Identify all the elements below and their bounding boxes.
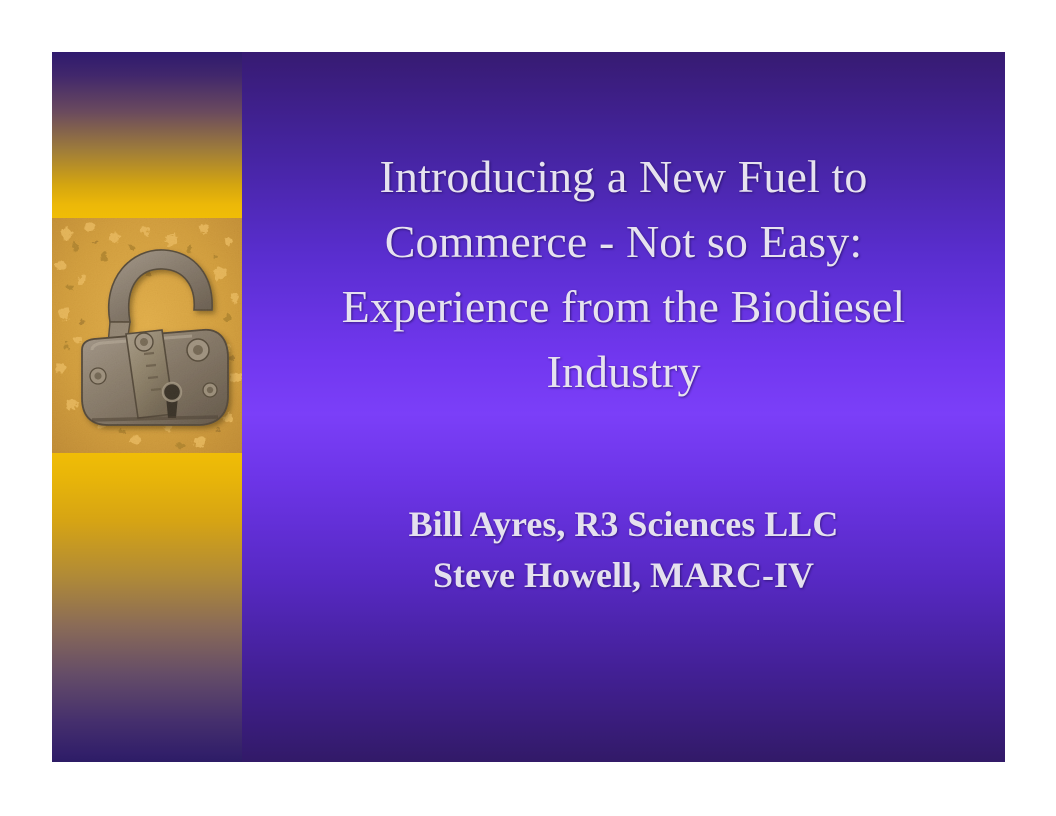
band-gradient-bottom bbox=[52, 453, 242, 762]
title-line-1: Introducing a New Fuel to bbox=[262, 144, 985, 209]
title-line-2: Commerce - Not so Easy: bbox=[262, 209, 985, 274]
title-line-3: Experience from the Biodiesel bbox=[262, 274, 985, 339]
subtitle-line-1: Bill Ayres, R3 Sciences LLC bbox=[262, 499, 985, 550]
slide-subtitle: Bill Ayres, R3 Sciences LLC Steve Howell… bbox=[262, 499, 985, 601]
padlock-photo bbox=[52, 218, 242, 453]
decorative-sidebar-band bbox=[52, 52, 242, 762]
padlock-icon bbox=[52, 218, 242, 453]
slide-title: Introducing a New Fuel to Commerce - Not… bbox=[262, 144, 985, 404]
slide-text-column: Introducing a New Fuel to Commerce - Not… bbox=[242, 52, 1005, 762]
title-line-4: Industry bbox=[262, 339, 985, 404]
presentation-slide: Introducing a New Fuel to Commerce - Not… bbox=[52, 52, 1005, 762]
band-gradient-top bbox=[52, 52, 242, 218]
subtitle-line-2: Steve Howell, MARC-IV bbox=[262, 550, 985, 601]
